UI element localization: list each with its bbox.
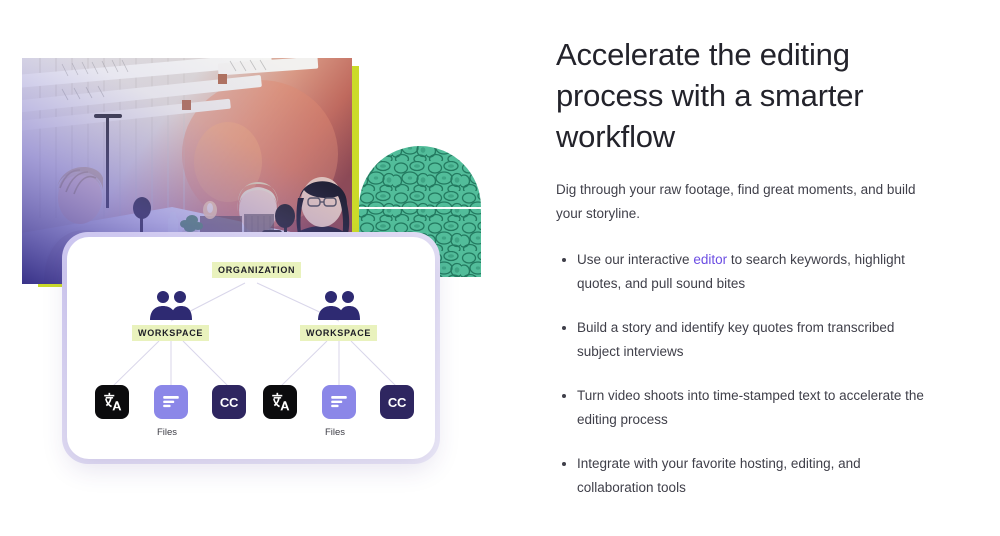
visual-column: ORGANIZATION WORKSPACE [0,0,520,536]
organization-label: ORGANIZATION [212,262,301,278]
translate-icon [263,385,297,419]
editor-link[interactable]: editor [693,252,727,267]
files-label-2: Files [325,427,345,438]
workspace-label-1: WORKSPACE [132,325,209,341]
closed-caption-icon: CC [212,385,246,419]
transcript-icon [154,385,188,419]
content-column: Accelerate the editing process with a sm… [556,34,936,520]
feature-bullet-list: Use our interactive editor to search key… [556,248,936,500]
transcript-icon [322,385,356,419]
translate-icon [95,385,129,419]
feature-bullet-item: Use our interactive editor to search key… [556,248,928,296]
cc-glyph: CC [388,395,406,410]
bullet-text: Integrate with your favorite hosting, ed… [577,456,861,495]
bullet-text: Turn video shoots into time-stamped text… [577,388,924,427]
feature-bullet-item: Turn video shoots into time-stamped text… [556,384,928,432]
workspace-people-icon [148,290,194,320]
bullet-text: Build a story and identify key quotes fr… [577,320,894,359]
cc-glyph: CC [220,395,238,410]
feature-bullet-item: Build a story and identify key quotes fr… [556,316,928,364]
intro-paragraph: Dig through your raw footage, find great… [556,178,924,226]
files-label-1: Files [157,427,177,438]
workspace-people-icon [316,290,362,320]
closed-caption-icon: CC [380,385,414,419]
bullet-text: Use our interactive [577,252,693,267]
feature-bullet-item: Integrate with your favorite hosting, ed… [556,452,928,500]
marketing-feature-section: ORGANIZATION WORKSPACE [0,0,1000,536]
page-title: Accelerate the editing process with a sm… [556,34,916,157]
workspace-label-2: WORKSPACE [300,325,377,341]
organization-hierarchy-diagram: ORGANIZATION WORKSPACE [67,237,435,459]
